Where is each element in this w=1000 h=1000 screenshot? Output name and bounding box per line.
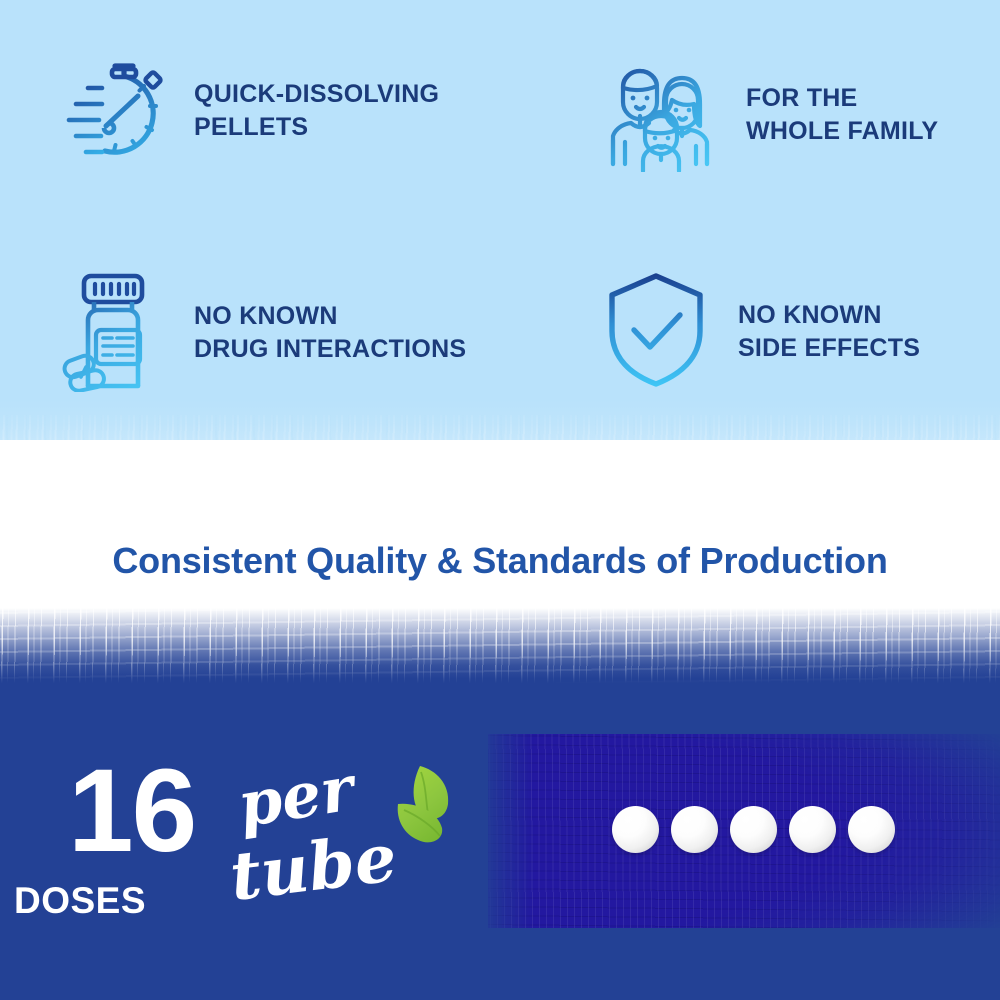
feature-no-side-effects: NO KNOWN SIDE EFFECTS: [600, 268, 920, 395]
doses-unit: DOSES: [14, 880, 146, 922]
pellet-row: [612, 806, 895, 853]
pellet-sphere: [789, 806, 836, 853]
infographic-page: QUICK-DISSOLVING PELLETS: [0, 0, 1000, 1000]
feature-label: NO KNOWN SIDE EFFECTS: [738, 299, 920, 365]
feature-no-drug-interactions: NO KNOWN DRUG INTERACTIONS: [58, 268, 466, 397]
brush-transition-streaks: [0, 608, 1000, 690]
feature-grid: QUICK-DISSOLVING PELLETS: [0, 0, 1000, 420]
feature-quick-dissolving: QUICK-DISSOLVING PELLETS: [60, 52, 439, 169]
feature-whole-family: FOR THE WHOLE FAMILY: [600, 52, 938, 177]
per-tube-script: per tube: [230, 754, 460, 929]
shield-check-icon: [600, 268, 712, 395]
page-headline: Consistent Quality & Standards of Produc…: [0, 540, 1000, 582]
pellet-sphere: [730, 806, 777, 853]
feature-label: QUICK-DISSOLVING PELLETS: [194, 78, 439, 144]
pill-bottle-icon: [58, 268, 170, 397]
stopwatch-icon: [60, 52, 172, 169]
doses-count: 16: [68, 752, 195, 870]
feature-label: FOR THE WHOLE FAMILY: [746, 82, 938, 148]
brush-transition: [0, 608, 1000, 690]
leaf-icon: [376, 764, 458, 855]
feature-label: NO KNOWN DRUG INTERACTIONS: [194, 300, 466, 366]
pellet-sphere: [671, 806, 718, 853]
pellet-sphere: [848, 806, 895, 853]
family-icon: [600, 52, 720, 177]
pellet-sphere: [612, 806, 659, 853]
